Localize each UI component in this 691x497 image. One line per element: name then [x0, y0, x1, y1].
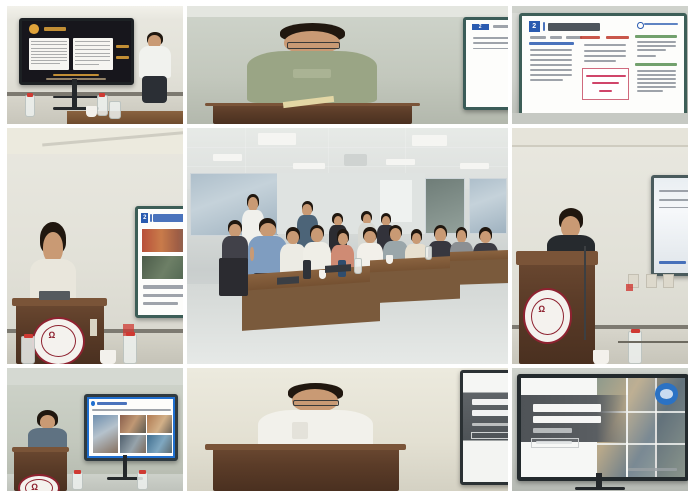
display-screen: [19, 18, 134, 85]
collage-cell-bottom-title-slide[interactable]: [512, 368, 688, 491]
podium: [213, 444, 399, 491]
slide-volunteer-activities: [87, 397, 175, 459]
slide-title-partial: [463, 373, 508, 481]
person-presenter: [135, 32, 174, 103]
person-speaker: [28, 410, 67, 452]
slide-seven-ones: 2: [522, 16, 684, 116]
display-screen: [517, 374, 688, 480]
collage-cell-bottom-center[interactable]: [187, 368, 508, 491]
window: [469, 178, 506, 234]
collage-cell-top-center[interactable]: 2: [187, 6, 508, 124]
podium: [213, 103, 412, 124]
slide-section-number: 2: [529, 21, 540, 32]
photo-classroom-presenter: [7, 6, 183, 124]
collage-cell-middle-left[interactable]: Ω 2: [7, 128, 183, 364]
slide-document: [654, 178, 688, 272]
slide-center-callout: [582, 68, 629, 100]
photo-title-slide-display: [512, 368, 688, 491]
projector-icon: [344, 154, 366, 166]
thermos: [303, 260, 311, 279]
slide-partial: 2: [466, 20, 508, 107]
slide-graduation-education: 2: [138, 209, 183, 315]
photo-collage-grid: 2 2: [7, 6, 684, 491]
collage-cell-center-group-photo[interactable]: [187, 128, 508, 364]
display-screen-partial: 2: [463, 17, 508, 110]
collage-cell-middle-right[interactable]: Ω: [512, 128, 688, 364]
school-seal: Ω: [32, 317, 85, 364]
photo-group-meeting: [187, 128, 508, 364]
display-screen: 2: [519, 13, 687, 119]
collage-cell-top-right[interactable]: 2: [512, 6, 688, 124]
display-screen: [84, 394, 178, 462]
collage-cell-top-left[interactable]: [7, 6, 183, 124]
display-screen-partial: [460, 370, 508, 484]
photo-slide-seven-ones: 2: [512, 6, 688, 124]
photo-woman-podium: Ω 2: [7, 128, 183, 364]
display-screen: [651, 175, 688, 275]
photo-woman-volunteer-slide: Ω: [7, 368, 183, 491]
laptop: [277, 276, 299, 285]
photo-speaker-podium: 2: [187, 6, 508, 124]
collage-cell-bottom-left[interactable]: Ω: [7, 368, 183, 491]
slide-report-title: [521, 378, 685, 476]
slide-dark-tables: [22, 21, 131, 82]
photo-man-podium: Ω: [512, 128, 688, 364]
display-screen: 2: [135, 206, 183, 318]
photo-man-white-shirt-podium: [187, 368, 508, 491]
